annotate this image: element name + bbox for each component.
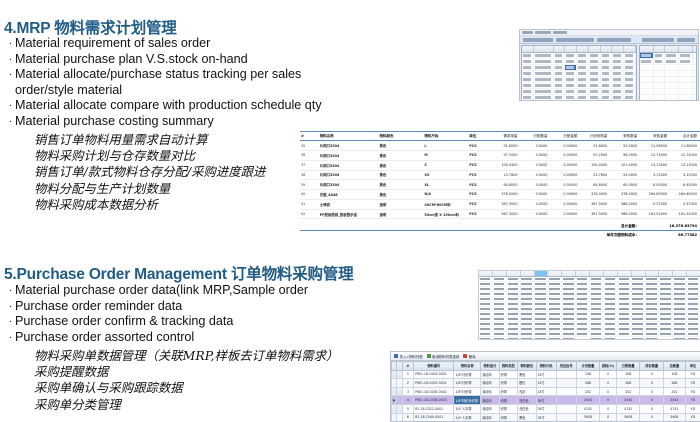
table-cell: 92.0000: [610, 141, 640, 151]
table-cell: 368.0000: [610, 209, 640, 219]
table-cell: 98.0000: [610, 150, 640, 160]
grid-cell: [601, 83, 613, 88]
grid-cell: [576, 292, 590, 296]
column-header[interactable]: 物料名称: [319, 132, 379, 141]
table-cell: 108: [663, 370, 685, 379]
column-header[interactable]: [604, 271, 618, 276]
column-header[interactable]: [624, 46, 636, 52]
grid-cell: [479, 327, 493, 331]
table-cell: 片网口3304: [319, 180, 379, 190]
table-cell: 8.45000: [670, 180, 700, 190]
grid-cell: [548, 322, 562, 326]
grid-cell: [665, 89, 679, 94]
column-header[interactable]: #: [300, 132, 319, 141]
grid-cell: [673, 317, 687, 321]
column-header[interactable]: [577, 46, 589, 52]
total-label: 总计金额：: [549, 224, 645, 229]
table-cell: PCS: [468, 199, 490, 209]
grid-cell: [554, 89, 566, 94]
table-row[interactable]: 3PWO-18-C006-00021/8"针织带涤纶料织带浅灰18寸202020…: [392, 387, 700, 396]
table-row[interactable]: 39片网口3304黑色XLPCS64.80000.00000.0000064.8…: [300, 180, 700, 190]
grid-cell: [522, 65, 534, 70]
grid-cell: [646, 277, 660, 281]
grid-cell: [640, 59, 654, 64]
table-cell: 0: [600, 396, 617, 405]
column-header[interactable]: 计划数量: [576, 362, 599, 371]
grid-cell: [646, 302, 660, 306]
grid-header-row[interactable]: [522, 46, 636, 53]
column-header[interactable]: 物料成分: [481, 362, 499, 371]
table-cell: 0.00000: [550, 170, 580, 180]
column-header[interactable]: 需求用量: [491, 132, 521, 141]
grid-cell: [479, 307, 493, 311]
table-cell: 288: [617, 379, 640, 388]
grid-cell: [687, 287, 700, 291]
grid-cell: [562, 327, 576, 331]
table-cell: 0.00000: [550, 180, 580, 190]
grid-cell: [590, 312, 604, 316]
grid-cell: [535, 282, 549, 286]
grid-cell: [576, 322, 590, 326]
section-number: 5.: [4, 266, 17, 283]
grid-cell: [576, 287, 590, 291]
grid-cell: [604, 287, 618, 291]
grid-cell: [640, 95, 654, 100]
toolbar-button-stock-query[interactable]: [677, 38, 695, 42]
cn-note-line: 物料采购成本数据分析: [34, 197, 265, 213]
table-cell: R2-18-2322-0001: [414, 404, 454, 413]
screenshot-material-costing-report[interactable]: #物料名称物料颜色物料尺码单位需求用量分配数量分配金额计划采购量采购数量采购金额…: [300, 131, 700, 239]
grid-cell: [535, 337, 549, 340]
toolbar-button-unallocated-query[interactable]: [597, 38, 631, 42]
column-header[interactable]: [590, 271, 604, 276]
table-cell: 橙红: [518, 379, 536, 388]
grid-cell: [521, 287, 535, 291]
grid-cell: [654, 59, 665, 64]
table-cell: L: [423, 141, 468, 151]
cn-note-line: 物料采购单数据管理（关联MRP,样板去订单物料需求）: [34, 348, 338, 364]
table-cell: 367.5000: [491, 209, 521, 219]
column-header[interactable]: [601, 46, 613, 52]
grid-cell: [632, 312, 646, 316]
grid-cell: [479, 337, 493, 340]
column-header[interactable]: 物料编号: [414, 362, 454, 371]
grid-cell: [589, 65, 601, 70]
column-header[interactable]: 合计金额: [670, 132, 700, 141]
cn-note-list-po: 物料采购单数据管理（关联MRP,样板去订单物料需求） 采购提醒数据 采购单确认与…: [34, 348, 338, 413]
column-header[interactable]: [618, 271, 632, 276]
grid-cell: [562, 287, 576, 291]
table-row[interactable]: 1PWO-18-C004-00021/8"针织带涤纶料织带黑色18寸108010…: [392, 370, 700, 379]
table-cell: 288: [576, 379, 599, 388]
column-header[interactable]: 库存数量: [640, 362, 663, 371]
table-cell: 3.12000: [640, 170, 670, 180]
bullet-item: · Material purchase plan V.S.stock on-ha…: [6, 52, 322, 68]
table-cell: 38: [300, 170, 319, 180]
grid-cell: [604, 282, 618, 286]
table-cell: 涤纶料: [481, 370, 499, 379]
table-cell: S: [423, 160, 468, 170]
table-body: 1PWO-18-C004-00021/8"针织带涤纶料织带黑色18寸108010…: [392, 370, 700, 422]
column-header[interactable]: 分配金额: [550, 132, 580, 141]
grid-cell: [618, 312, 632, 316]
grid-row[interactable]: [479, 337, 700, 340]
table-row[interactable]: 5R2-18-2322-00013/4"人字带涤纶料织带浅白色38寸474204…: [392, 404, 700, 413]
grid-cell: [589, 83, 601, 88]
grid-cell: [646, 332, 660, 336]
cn-note-line: 采购提醒数据: [34, 364, 338, 380]
column-header[interactable]: 供应批号: [556, 362, 576, 371]
column-header[interactable]: [665, 46, 679, 52]
table-cell: 64.8000: [491, 180, 521, 190]
grid-cell: [618, 307, 632, 311]
grid-cell: [577, 89, 589, 94]
grid-cell: [601, 59, 613, 64]
column-header[interactable]: 总数量: [663, 362, 685, 371]
table-cell: 4: [402, 396, 413, 405]
table-row[interactable]: ▶4PWO-18-C006-00031/8"特织针织带涤纶料织带浅白色38寸20…: [392, 396, 700, 405]
grid-cell: [659, 297, 673, 301]
grid-cell: [577, 95, 589, 100]
grid-cell: [507, 277, 521, 281]
table-row[interactable]: 6R2-18-C040-00013/4"人字带涤纶料织带黑色38寸5608056…: [392, 413, 700, 422]
column-header[interactable]: [522, 46, 534, 52]
table-cell: PCS: [468, 150, 490, 160]
table-cell: 涤纶料: [481, 379, 499, 388]
bullet-list-po: · Material purchase order data(link MRP,…: [6, 283, 308, 345]
grid-cell: [562, 322, 576, 326]
column-header[interactable]: 单位: [468, 132, 490, 141]
bullet-dot: ·: [6, 52, 15, 68]
grid-cell: [576, 297, 590, 301]
grid-cell: [493, 292, 507, 296]
po-table-toolbar[interactable]: 导入>物料列表 取消物料列表选择 删除: [391, 352, 700, 361]
grid-cell: [548, 312, 562, 316]
table-row[interactable]: 37片网口3304黑色SPCS100.44000.00000.00000100.…: [300, 160, 700, 170]
toolbar-button-delete[interactable]: 删除: [463, 354, 475, 359]
table-cell: 黑色: [379, 160, 424, 170]
grid-cell: [604, 317, 618, 321]
grid-cell: [479, 282, 493, 286]
column-header[interactable]: [565, 46, 577, 52]
menu-item-edit[interactable]: [535, 31, 551, 34]
column-header[interactable]: [640, 46, 654, 52]
bullet-text: Material purchase plan V.S.stock on-hand: [15, 52, 248, 68]
grid-cell: [479, 287, 493, 291]
grid-body[interactable]: [479, 277, 700, 340]
grid-cell: [493, 287, 507, 291]
column-header[interactable]: [548, 271, 562, 276]
table-cell: 浅白色: [518, 404, 536, 413]
table-cell: [556, 387, 576, 396]
report-total-row: 单件衣服物料成本：66.77382: [300, 231, 700, 239]
grid-cell: [479, 302, 493, 306]
column-header[interactable]: 物料类型: [499, 362, 517, 371]
toolbar-button-import-material-list[interactable]: 导入>物料列表: [394, 354, 423, 359]
table-cell: R2-18-C040-0001: [414, 413, 454, 422]
grid-cell: [576, 337, 590, 340]
grid-cell: [659, 337, 673, 340]
grid-cell: [565, 77, 577, 82]
column-header[interactable]: 已购数量: [617, 362, 640, 371]
grid-cell: [632, 337, 646, 340]
table-row[interactable]: 36片网口3304黑色MPCS97.20000.00000.0000097.20…: [300, 150, 700, 160]
column-header[interactable]: [679, 46, 693, 52]
grid-cell: [640, 77, 654, 82]
cn-note-line: 物料分配与生产计划数量: [34, 181, 265, 197]
bullet-text-continued: order/style material: [15, 83, 301, 99]
grid-cell: [590, 287, 604, 291]
bullet-text: Material purchase costing summary: [15, 114, 214, 130]
table-cell: 0.00000: [550, 199, 580, 209]
table-cell: XS: [423, 170, 468, 180]
grid-cell: [659, 312, 673, 316]
grid-cell: [493, 322, 507, 326]
table-cell: 101.0000: [610, 160, 640, 170]
table-cell: 0: [640, 370, 663, 379]
po-material-table: #物料编号物料名称物料成分物料类型物料颜色物料尺码供应批号计划数量损耗(%)已购…: [391, 361, 700, 422]
grid-cell: [507, 297, 521, 301]
table-cell: PWO-18-C005-0002: [414, 379, 454, 388]
table-cell: 5608: [663, 413, 685, 422]
grid-cell: [654, 71, 665, 76]
grid-cell: [507, 302, 521, 306]
column-header[interactable]: [479, 271, 493, 276]
table-cell: 40CM*60CM料: [423, 199, 468, 209]
grid-cell: [618, 292, 632, 296]
column-header[interactable]: 损耗(%): [600, 362, 617, 371]
table-cell: 黑色: [518, 413, 536, 422]
column-header[interactable]: [632, 271, 646, 276]
table-cell: 0.0000: [521, 141, 551, 151]
grid-cell: [554, 95, 566, 100]
column-header[interactable]: [654, 46, 665, 52]
table-row[interactable]: 42PP胶装胶袋_胶装整示语透明50cm宽 X 150cm料PCS367.500…: [300, 209, 700, 219]
grid-cell: [624, 89, 636, 94]
toolbar-button-allocation-detail[interactable]: [523, 38, 553, 42]
table-cell: 2: [402, 379, 413, 388]
table-cell: 368.0000: [610, 199, 640, 209]
table-row[interactable]: 40衣服_4848黑色N/APCS378.00000.00000.0000037…: [300, 190, 700, 200]
grid-cell: [554, 71, 566, 76]
column-header[interactable]: [534, 46, 554, 52]
grid-row[interactable]: [522, 95, 636, 101]
grid-cell: [646, 337, 660, 340]
table-cell: PWO-18-C006-0002: [414, 387, 454, 396]
table-cell: 0: [640, 396, 663, 405]
screenshot-purchase-order-material-table[interactable]: 导入>物料列表 取消物料列表选择 删除 #物料编号物料名称物料成分物料类型物料颜…: [390, 351, 700, 422]
column-header[interactable]: [576, 271, 590, 276]
grid-cell: [535, 297, 549, 301]
column-header[interactable]: 物料颜色: [518, 362, 536, 371]
grid-cell: [659, 307, 673, 311]
bullet-list-mrp: · Material requirement of sales order · …: [6, 36, 322, 129]
grid-cell: [612, 83, 624, 88]
table-cell: 0.0000: [521, 160, 551, 170]
column-header[interactable]: [687, 271, 700, 276]
table-cell: 1/8"针织带: [454, 387, 481, 396]
grid-cell: [507, 307, 521, 311]
column-header[interactable]: [673, 271, 687, 276]
screenshot-material-allocation-window[interactable]: [519, 29, 699, 101]
table-cell: 黑色: [379, 180, 424, 190]
table-cell: 2044: [663, 396, 685, 405]
grid-cell: [640, 53, 654, 58]
grid-cell: [612, 53, 624, 58]
table-cell: 91.8000: [580, 141, 610, 151]
column-header[interactable]: [589, 46, 601, 52]
table-cell: 3/4"人字带: [454, 413, 481, 422]
grid-cell: [590, 302, 604, 306]
cn-note-line: 采购单确认与采购跟踪数据: [34, 380, 338, 396]
toolbar-button-clear-selection[interactable]: 取消物料列表选择: [427, 354, 460, 359]
grid-cell: [534, 89, 554, 94]
screenshot-purchase-order-detail-grid[interactable]: [478, 270, 700, 340]
column-header[interactable]: [535, 271, 549, 276]
grid-cell: [632, 277, 646, 281]
column-header[interactable]: [507, 271, 521, 276]
grid-cell: [646, 312, 660, 316]
column-header[interactable]: 单位: [685, 362, 700, 371]
grid-cell: [562, 277, 576, 281]
table-cell: 42: [300, 209, 319, 219]
table-cell: 108: [576, 370, 599, 379]
section-title-en: MRP: [17, 20, 55, 37]
table-cell: 367.5000: [580, 199, 610, 209]
column-header[interactable]: [612, 46, 624, 52]
window-body: [520, 44, 698, 101]
table-cell: 片网口3304: [319, 160, 379, 170]
grid-cell: [665, 95, 679, 100]
column-header[interactable]: 物料尺码: [423, 132, 468, 141]
column-header[interactable]: 分配数量: [521, 132, 551, 141]
grid-cell: [576, 302, 590, 306]
grid-cell: [521, 332, 535, 336]
grid-cell: [548, 317, 562, 321]
column-header[interactable]: 物料名称: [454, 362, 481, 371]
grid-cell: [673, 297, 687, 301]
table-cell: 11.98000: [640, 141, 670, 151]
grid-cell: [604, 322, 618, 326]
grid-cell: [624, 53, 636, 58]
grid-cell: [554, 77, 566, 82]
table-cell: 41: [300, 199, 319, 209]
column-header[interactable]: 采购数量: [610, 132, 640, 141]
grid-header-row[interactable]: [640, 46, 696, 53]
bullet-text: Material requirement of sales order: [15, 36, 210, 52]
grid-cell: [601, 71, 613, 76]
section-title-en: Purchase Order Management: [17, 266, 231, 283]
table-row[interactable]: 2PWO-18-C005-00021/8"针织带涤纶料织带橙红18寸288028…: [392, 379, 700, 388]
table-row[interactable]: 35片网口3304黑色LPCS91.80000.00000.0000091.80…: [300, 141, 700, 151]
grid-cell: [565, 89, 577, 94]
table-cell: 100.4400: [491, 160, 521, 170]
bullet-text: Purchase order reminder data: [15, 299, 182, 315]
grid-cell: [479, 292, 493, 296]
table-cell: 涤纶料: [481, 413, 499, 422]
grid-cell: [548, 302, 562, 306]
grid-row[interactable]: [640, 95, 696, 101]
grid-cell: [604, 337, 618, 340]
grid-cell: [687, 282, 700, 286]
column-header[interactable]: #: [402, 362, 413, 371]
grid-cell: [507, 322, 521, 326]
toolbar-button-allocation-summary[interactable]: [556, 38, 594, 42]
grid-cell: [640, 65, 654, 70]
grid-cell: [687, 302, 700, 306]
grid-cell: [534, 59, 554, 64]
grid-cell: [576, 317, 590, 321]
grid-cell: [562, 282, 576, 286]
table-cell: 18寸: [536, 370, 556, 379]
clear-selection-icon: [427, 354, 431, 358]
grid-cell: [507, 337, 521, 340]
table-cell: 367.5000: [580, 209, 610, 219]
column-header[interactable]: [521, 271, 535, 276]
menu-item-file[interactable]: [522, 31, 533, 34]
grid-cell: [659, 302, 673, 306]
table-row[interactable]: 41士啤袋透明40CM*60CM料PCS367.50000.00000.0000…: [300, 199, 700, 209]
table-cell: 0.0000: [521, 209, 551, 219]
grid-cell: [601, 65, 613, 70]
menu-item-view[interactable]: [553, 31, 567, 34]
table-cell: 202: [576, 387, 599, 396]
grid-cell: [521, 297, 535, 301]
grid-pane-left[interactable]: [521, 45, 637, 101]
table-cell: 5: [402, 404, 413, 413]
grid-cell: [507, 317, 521, 321]
grid-cell: [659, 292, 673, 296]
grid-cell: [646, 292, 660, 296]
grid-cell: [521, 317, 535, 321]
column-header[interactable]: [493, 271, 507, 276]
grid-cell: [673, 312, 687, 316]
grid-cell: [618, 297, 632, 301]
column-header[interactable]: 物料尺码: [536, 362, 556, 371]
grid-pane-right[interactable]: [639, 45, 697, 101]
grid-cell: [687, 292, 700, 296]
toolbar-label: 取消物料列表选择: [432, 354, 459, 359]
table-cell: 202: [663, 387, 685, 396]
grid-cell: [673, 292, 687, 296]
table-cell: 13.13000: [640, 160, 670, 170]
grid-cell: [646, 322, 660, 326]
bullet-item: · Purchase order assorted control: [6, 330, 308, 346]
grid-cell: [687, 332, 700, 336]
grid-cell: [548, 332, 562, 336]
grid-cell: [624, 65, 636, 70]
column-header[interactable]: [646, 271, 660, 276]
window-toolbar[interactable]: [520, 36, 698, 44]
table-cell: 35: [300, 141, 319, 151]
grid-cell: [507, 292, 521, 296]
grid-cell: [522, 89, 534, 94]
table-cell: 39: [300, 180, 319, 190]
toolbar-button-stock-allocation-detail[interactable]: [642, 38, 674, 42]
column-header[interactable]: 采购金额: [640, 132, 670, 141]
column-header[interactable]: [659, 271, 673, 276]
grid-cell: [535, 287, 549, 291]
grid-cell: [562, 332, 576, 336]
grid-cell: [590, 297, 604, 301]
column-header[interactable]: 计划采购量: [580, 132, 610, 141]
column-header[interactable]: 物料颜色: [379, 132, 424, 141]
column-header[interactable]: [554, 46, 566, 52]
table-cell: YD: [685, 379, 700, 388]
table-row[interactable]: 38片网口3304黑色XSPCS23.76000.00000.0000023.7…: [300, 170, 700, 180]
column-header[interactable]: [562, 271, 576, 276]
table-cell: 108: [617, 370, 640, 379]
